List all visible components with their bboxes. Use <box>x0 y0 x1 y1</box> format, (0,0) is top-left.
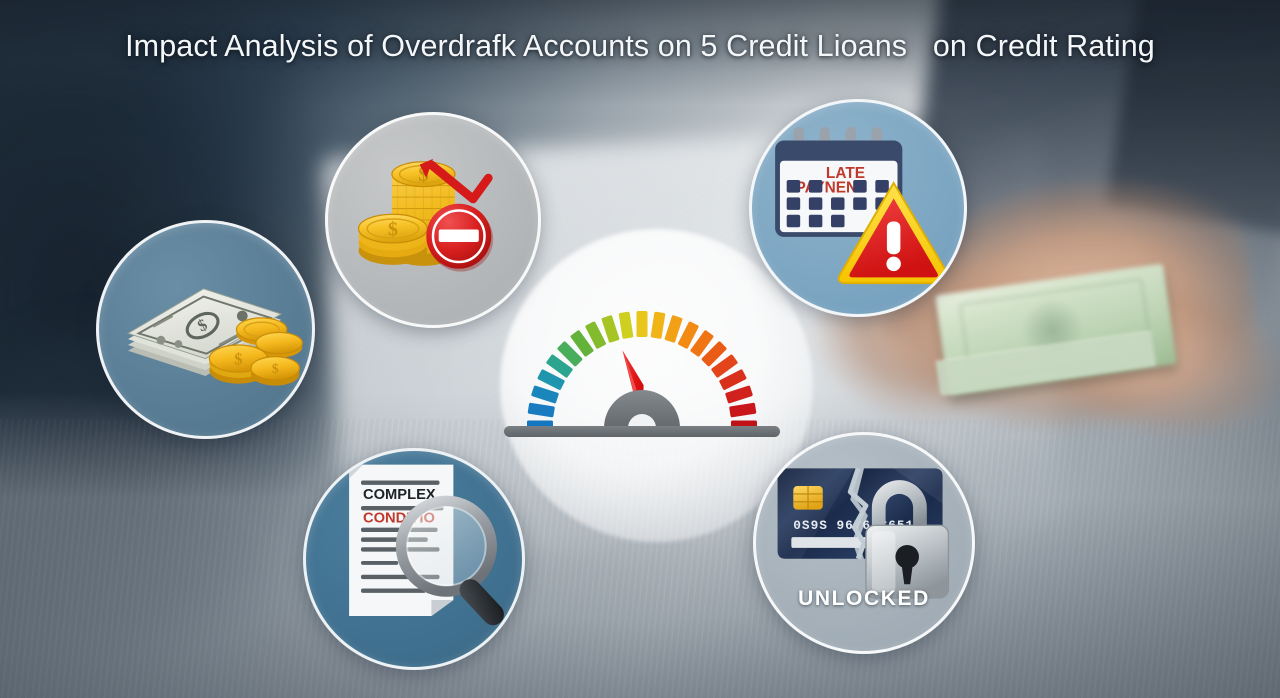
gauge-tick <box>725 385 753 403</box>
money-cash-icon: $ $ <box>99 223 312 436</box>
gauge-tick <box>528 403 555 418</box>
gauge-tick <box>601 315 619 343</box>
gauge-tick <box>650 312 665 339</box>
icon-bubble-coins-decline[interactable]: $ $ <box>325 112 541 328</box>
late-payment-calendar-icon: LATE PAYNENT <box>752 102 964 314</box>
gauge-tick <box>531 385 559 403</box>
unlocked-credit-card-icon: 0S9S 9676 S651 <box>756 435 972 651</box>
gauge-tick <box>619 312 634 339</box>
icon-bubble-unlocked-card[interactable]: 0S9S 9676 S651 UNLOCKED <box>753 432 975 654</box>
svg-text:$: $ <box>388 218 398 240</box>
svg-text:$: $ <box>234 349 242 368</box>
gauge-tick <box>729 403 756 418</box>
icon-bubble-complex-conditions[interactable]: COMPLEX CONDITIO <box>303 448 525 670</box>
gauge-tick <box>664 315 682 343</box>
icon-bubble-late-payment[interactable]: LATE PAYNENT <box>749 99 967 317</box>
gauge-tick <box>637 311 648 337</box>
infographic-canvas: Impact Analysis of Overdrafk Accounts on… <box>0 0 1280 698</box>
svg-text:$: $ <box>272 361 279 376</box>
complex-conditions-document-icon: COMPLEX CONDITIO <box>306 451 522 667</box>
page-title: Impact Analysis of Overdrafk Accounts on… <box>0 22 1280 70</box>
coins-decline-icon: $ $ <box>328 115 538 325</box>
gauge-base-bar <box>504 426 780 437</box>
card-status-label: UNLOCKED <box>756 587 972 611</box>
icon-bubble-money[interactable]: $ $ <box>96 220 315 439</box>
